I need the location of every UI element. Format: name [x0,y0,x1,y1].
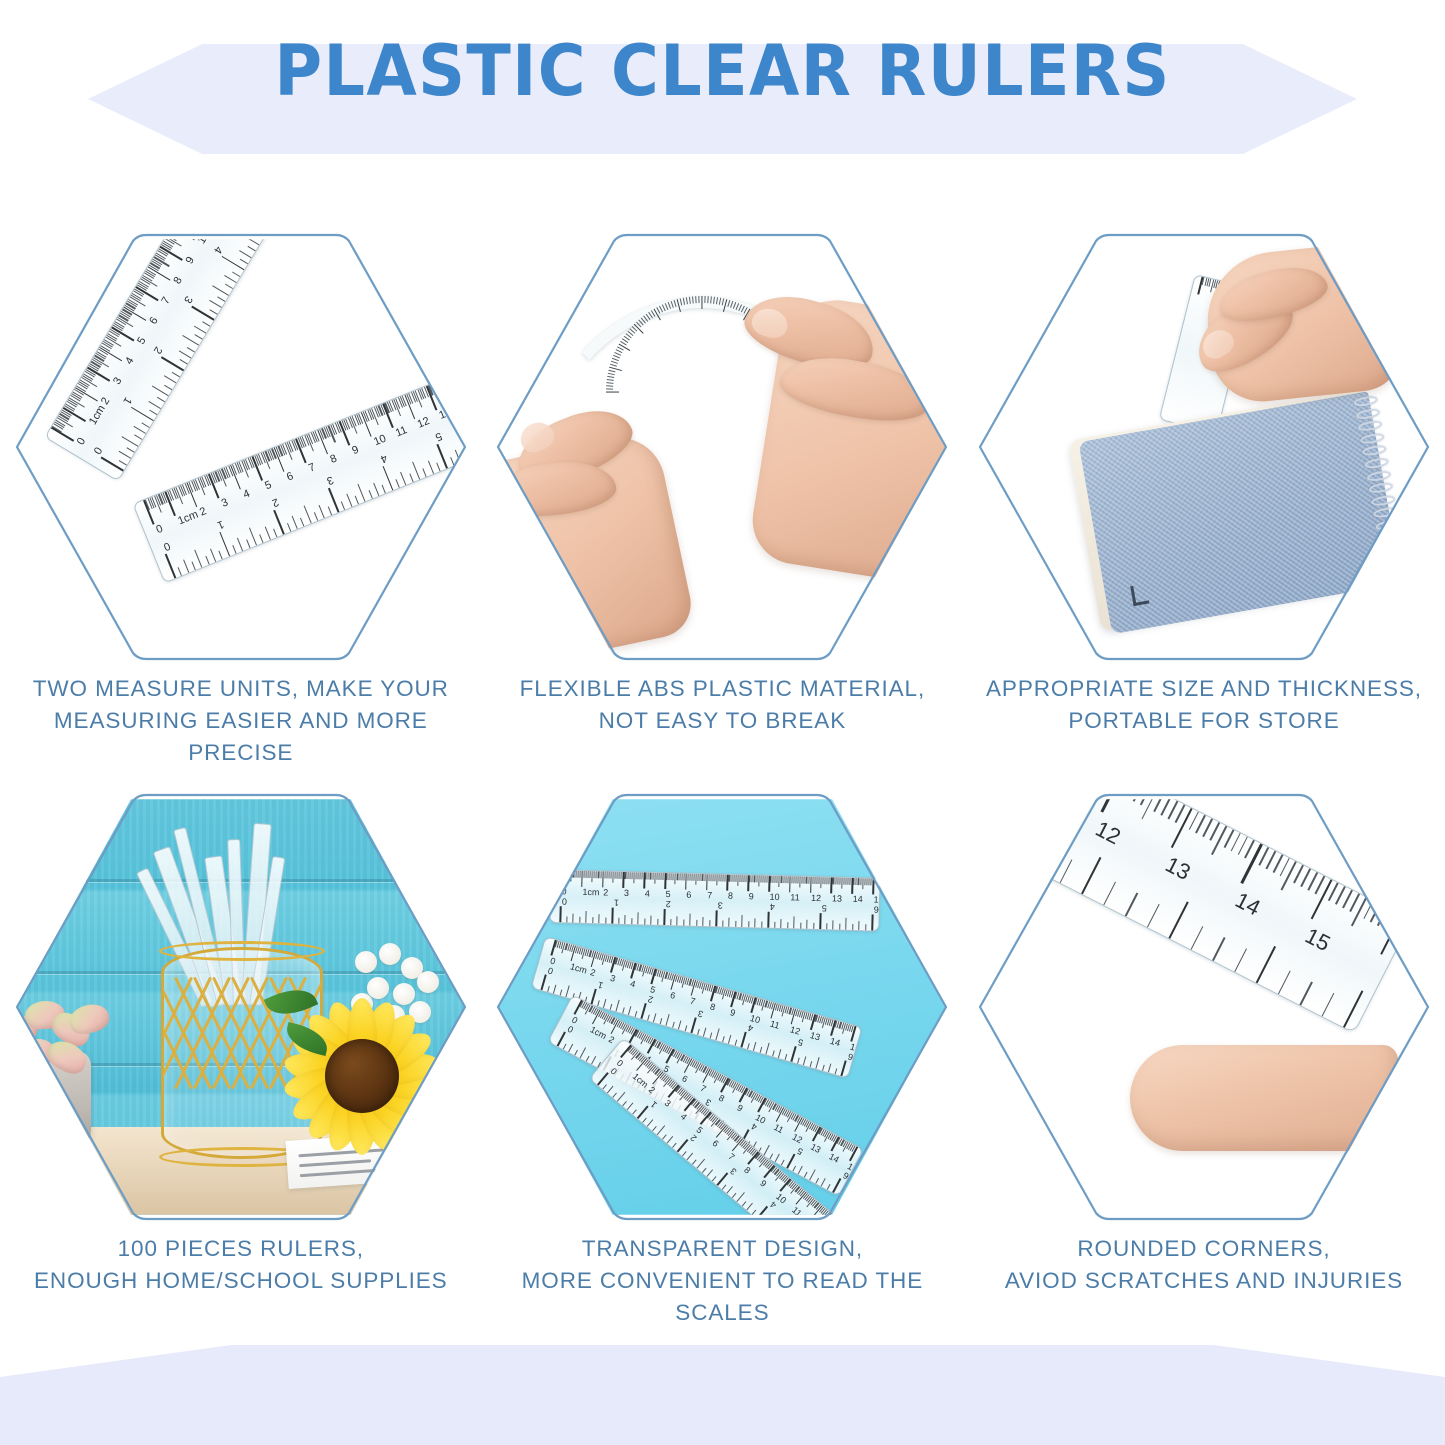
feature-row-2: 100 PIECES RULERS, ENOUGH HOME/SCHOOL SU… [0,775,1445,1335]
hexagon-outline-6 [978,793,1430,1221]
feature-cell-transparent-design: 01cm23456789101112131415012345601cm23456… [482,775,964,1335]
feature-cell-100-pieces: 100 PIECES RULERS, ENOUGH HOME/SCHOOL SU… [0,775,482,1335]
feature-cell-appropriate-size: 23456 [963,215,1445,775]
hexagon-frame-1: 01cm234567891011121314150123456 01cm2345… [15,233,467,661]
feature-caption-2: FLEXIBLE ABS PLASTIC MATERIAL, NOT EASY … [482,673,964,737]
feature-caption-1: TWO MEASURE UNITS, MAKE YOUR MEASURING E… [0,673,482,769]
feature-caption-6: ROUNDED CORNERS, AVIOD SCRATCHES AND INJ… [963,1233,1445,1297]
hexagon-outline-2 [496,233,948,661]
feature-grid: 01cm234567891011121314150123456 01cm2345… [0,215,1445,1335]
footer-banner [0,1345,1445,1445]
infographic-page: PLASTIC CLEAR RULERS 01cm234567891011121… [0,0,1445,1445]
feature-caption-4: 100 PIECES RULERS, ENOUGH HOME/SCHOOL SU… [0,1233,482,1297]
page-title: PLASTIC CLEAR RULERS [51,36,1395,106]
hexagon-frame-5: 01cm23456789101112131415012345601cm23456… [496,793,948,1221]
hexagon-outline-5 [496,793,948,1221]
hexagon-outline-1 [15,233,467,661]
hexagon-outline-4 [15,793,467,1221]
feature-row-1: 01cm234567891011121314150123456 01cm2345… [0,215,1445,775]
feature-caption-3: APPROPRIATE SIZE AND THICKNESS, PORTABLE… [963,673,1445,737]
hexagon-frame-2 [496,233,948,661]
feature-caption-5: TRANSPARENT DESIGN, MORE CONVENIENT TO R… [482,1233,964,1329]
feature-cell-rounded-corners: 1112131415inch0 ROUNDED CORNERS, AVIOD S… [963,775,1445,1335]
hexagon-frame-4 [15,793,467,1221]
hexagon-frame-6: 1112131415inch0 [978,793,1430,1221]
hexagon-frame-3: 23456 [978,233,1430,661]
hexagon-outline-3 [978,233,1430,661]
feature-cell-flexible-abs-plastic: FLEXIBLE ABS PLASTIC MATERIAL, NOT EASY … [482,215,964,775]
feature-cell-two-measure-units: 01cm234567891011121314150123456 01cm2345… [0,215,482,775]
